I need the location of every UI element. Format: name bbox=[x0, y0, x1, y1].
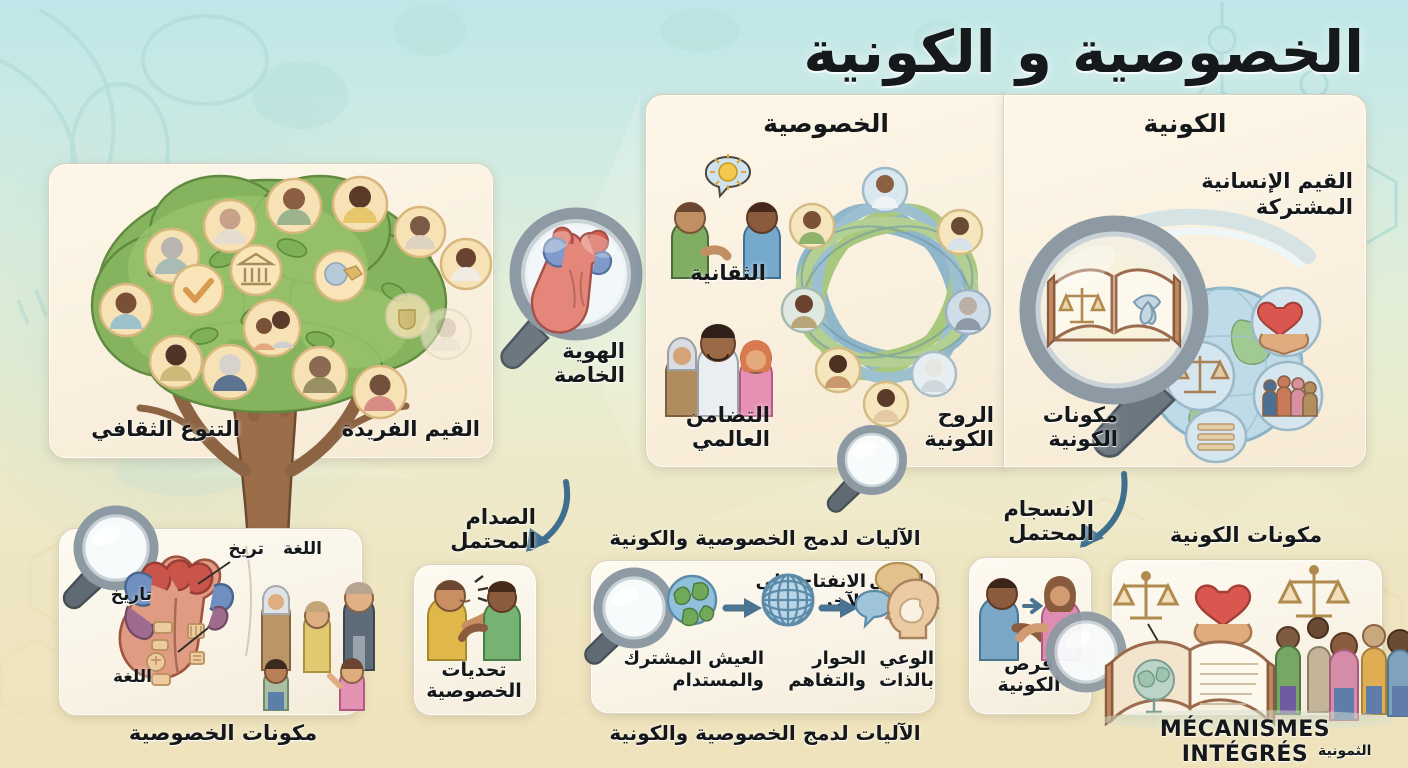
head-profile-icon bbox=[884, 578, 940, 640]
infographic-canvas: NH N bbox=[0, 0, 1408, 768]
tree-portrait bbox=[150, 336, 202, 388]
argument-people-icon bbox=[420, 570, 530, 662]
tree-portrait bbox=[204, 200, 256, 252]
tree-label-diversity: التنوع الثقافي bbox=[60, 418, 240, 442]
tree-portrait bbox=[203, 345, 257, 399]
scales-icon bbox=[1115, 573, 1177, 619]
network-portrait bbox=[790, 204, 834, 248]
cultural-diversity-tree bbox=[48, 140, 492, 560]
universal-spirit-network bbox=[782, 170, 992, 420]
tree-icon-cup bbox=[386, 294, 430, 338]
tree-portrait bbox=[100, 284, 152, 336]
network-portrait bbox=[863, 168, 907, 212]
tree-label-values: القيم الفريدة bbox=[300, 418, 480, 442]
network-portrait bbox=[782, 288, 826, 332]
mechanisms-label-dialogue: الحوار والتفاهم bbox=[770, 648, 866, 691]
people-figure bbox=[344, 582, 374, 670]
family-group-icon bbox=[660, 310, 796, 418]
tree-icon-globe bbox=[315, 251, 365, 301]
network-portrait bbox=[912, 352, 956, 396]
privacy-magnifier-icon bbox=[822, 418, 912, 518]
hands-heart-icon bbox=[1195, 586, 1251, 650]
mechanisms-label-selfawareness: الوعي بالذات bbox=[872, 648, 934, 691]
privacy-label-culture: الثقانية bbox=[658, 262, 766, 286]
people-figure bbox=[264, 659, 288, 710]
people-figure bbox=[1276, 627, 1300, 714]
tree-icon-check bbox=[173, 265, 223, 315]
harmony-arrow-label: الانسجام المحتمل bbox=[972, 498, 1094, 545]
clash-arrow-label: الصدام المحتمل bbox=[418, 506, 536, 553]
scales-icon bbox=[1280, 567, 1348, 617]
identity-magnifier-label: الهوية الخاصة bbox=[515, 340, 625, 387]
clash-card-caption: تحديات الخصوصية bbox=[413, 660, 535, 703]
tree-portrait bbox=[267, 179, 321, 233]
people-figure bbox=[1308, 618, 1330, 712]
people-badge bbox=[1254, 362, 1322, 430]
people-figure bbox=[330, 658, 364, 710]
people-figure bbox=[1388, 630, 1408, 716]
equality-badge bbox=[1186, 410, 1246, 462]
network-portrait bbox=[816, 348, 860, 392]
privacy-label-solidarity: التضامن العالمي bbox=[658, 404, 770, 451]
privacy-components-illustration bbox=[48, 500, 378, 725]
people-figure bbox=[304, 601, 330, 672]
tree-portrait bbox=[395, 207, 445, 257]
universality-panel-header: الكونية bbox=[1004, 109, 1366, 138]
network-portrait bbox=[946, 290, 990, 334]
mechanisms-title-below: الآليات لدمج الخصوصية والكونية bbox=[600, 722, 930, 744]
tree-portrait bbox=[354, 366, 406, 418]
people-label-language: اللغة bbox=[250, 540, 322, 559]
privacy-panel-header: الخصوصية bbox=[646, 109, 1006, 138]
mechanisms-label-coexistence: العيش المشترك والمستدام bbox=[604, 648, 764, 691]
integrated-corner-note: الثمونية bbox=[1318, 744, 1402, 760]
hands-heart-badge bbox=[1252, 288, 1320, 356]
heart-label-bottom: اللغة bbox=[80, 668, 152, 687]
privacy-components-caption: مكونات الخصوصية bbox=[108, 722, 338, 746]
people-figure bbox=[262, 586, 290, 670]
page-title: الخصوصية و الكونية bbox=[803, 18, 1364, 86]
tree-portrait bbox=[244, 300, 300, 356]
tree-portrait bbox=[293, 347, 347, 401]
tree-icon-building bbox=[231, 245, 281, 295]
people-figure bbox=[1362, 625, 1386, 714]
globe-grid-icon bbox=[763, 575, 813, 625]
universality-label-components: مكونات الكونية bbox=[1008, 404, 1118, 451]
integrated-mechanisms-illustration bbox=[1078, 552, 1408, 722]
mechanisms-title-above: الآليات لدمج الخصوصية والكونية bbox=[600, 527, 930, 549]
tree-portrait bbox=[441, 239, 491, 289]
heart-label-left: تاريخ bbox=[80, 586, 152, 605]
people-figure bbox=[1330, 633, 1358, 720]
tree-portrait bbox=[333, 177, 387, 231]
network-portrait bbox=[938, 210, 982, 254]
earth-icon bbox=[668, 576, 716, 625]
integrated-title-above: مكونات الكونية bbox=[1121, 524, 1371, 548]
